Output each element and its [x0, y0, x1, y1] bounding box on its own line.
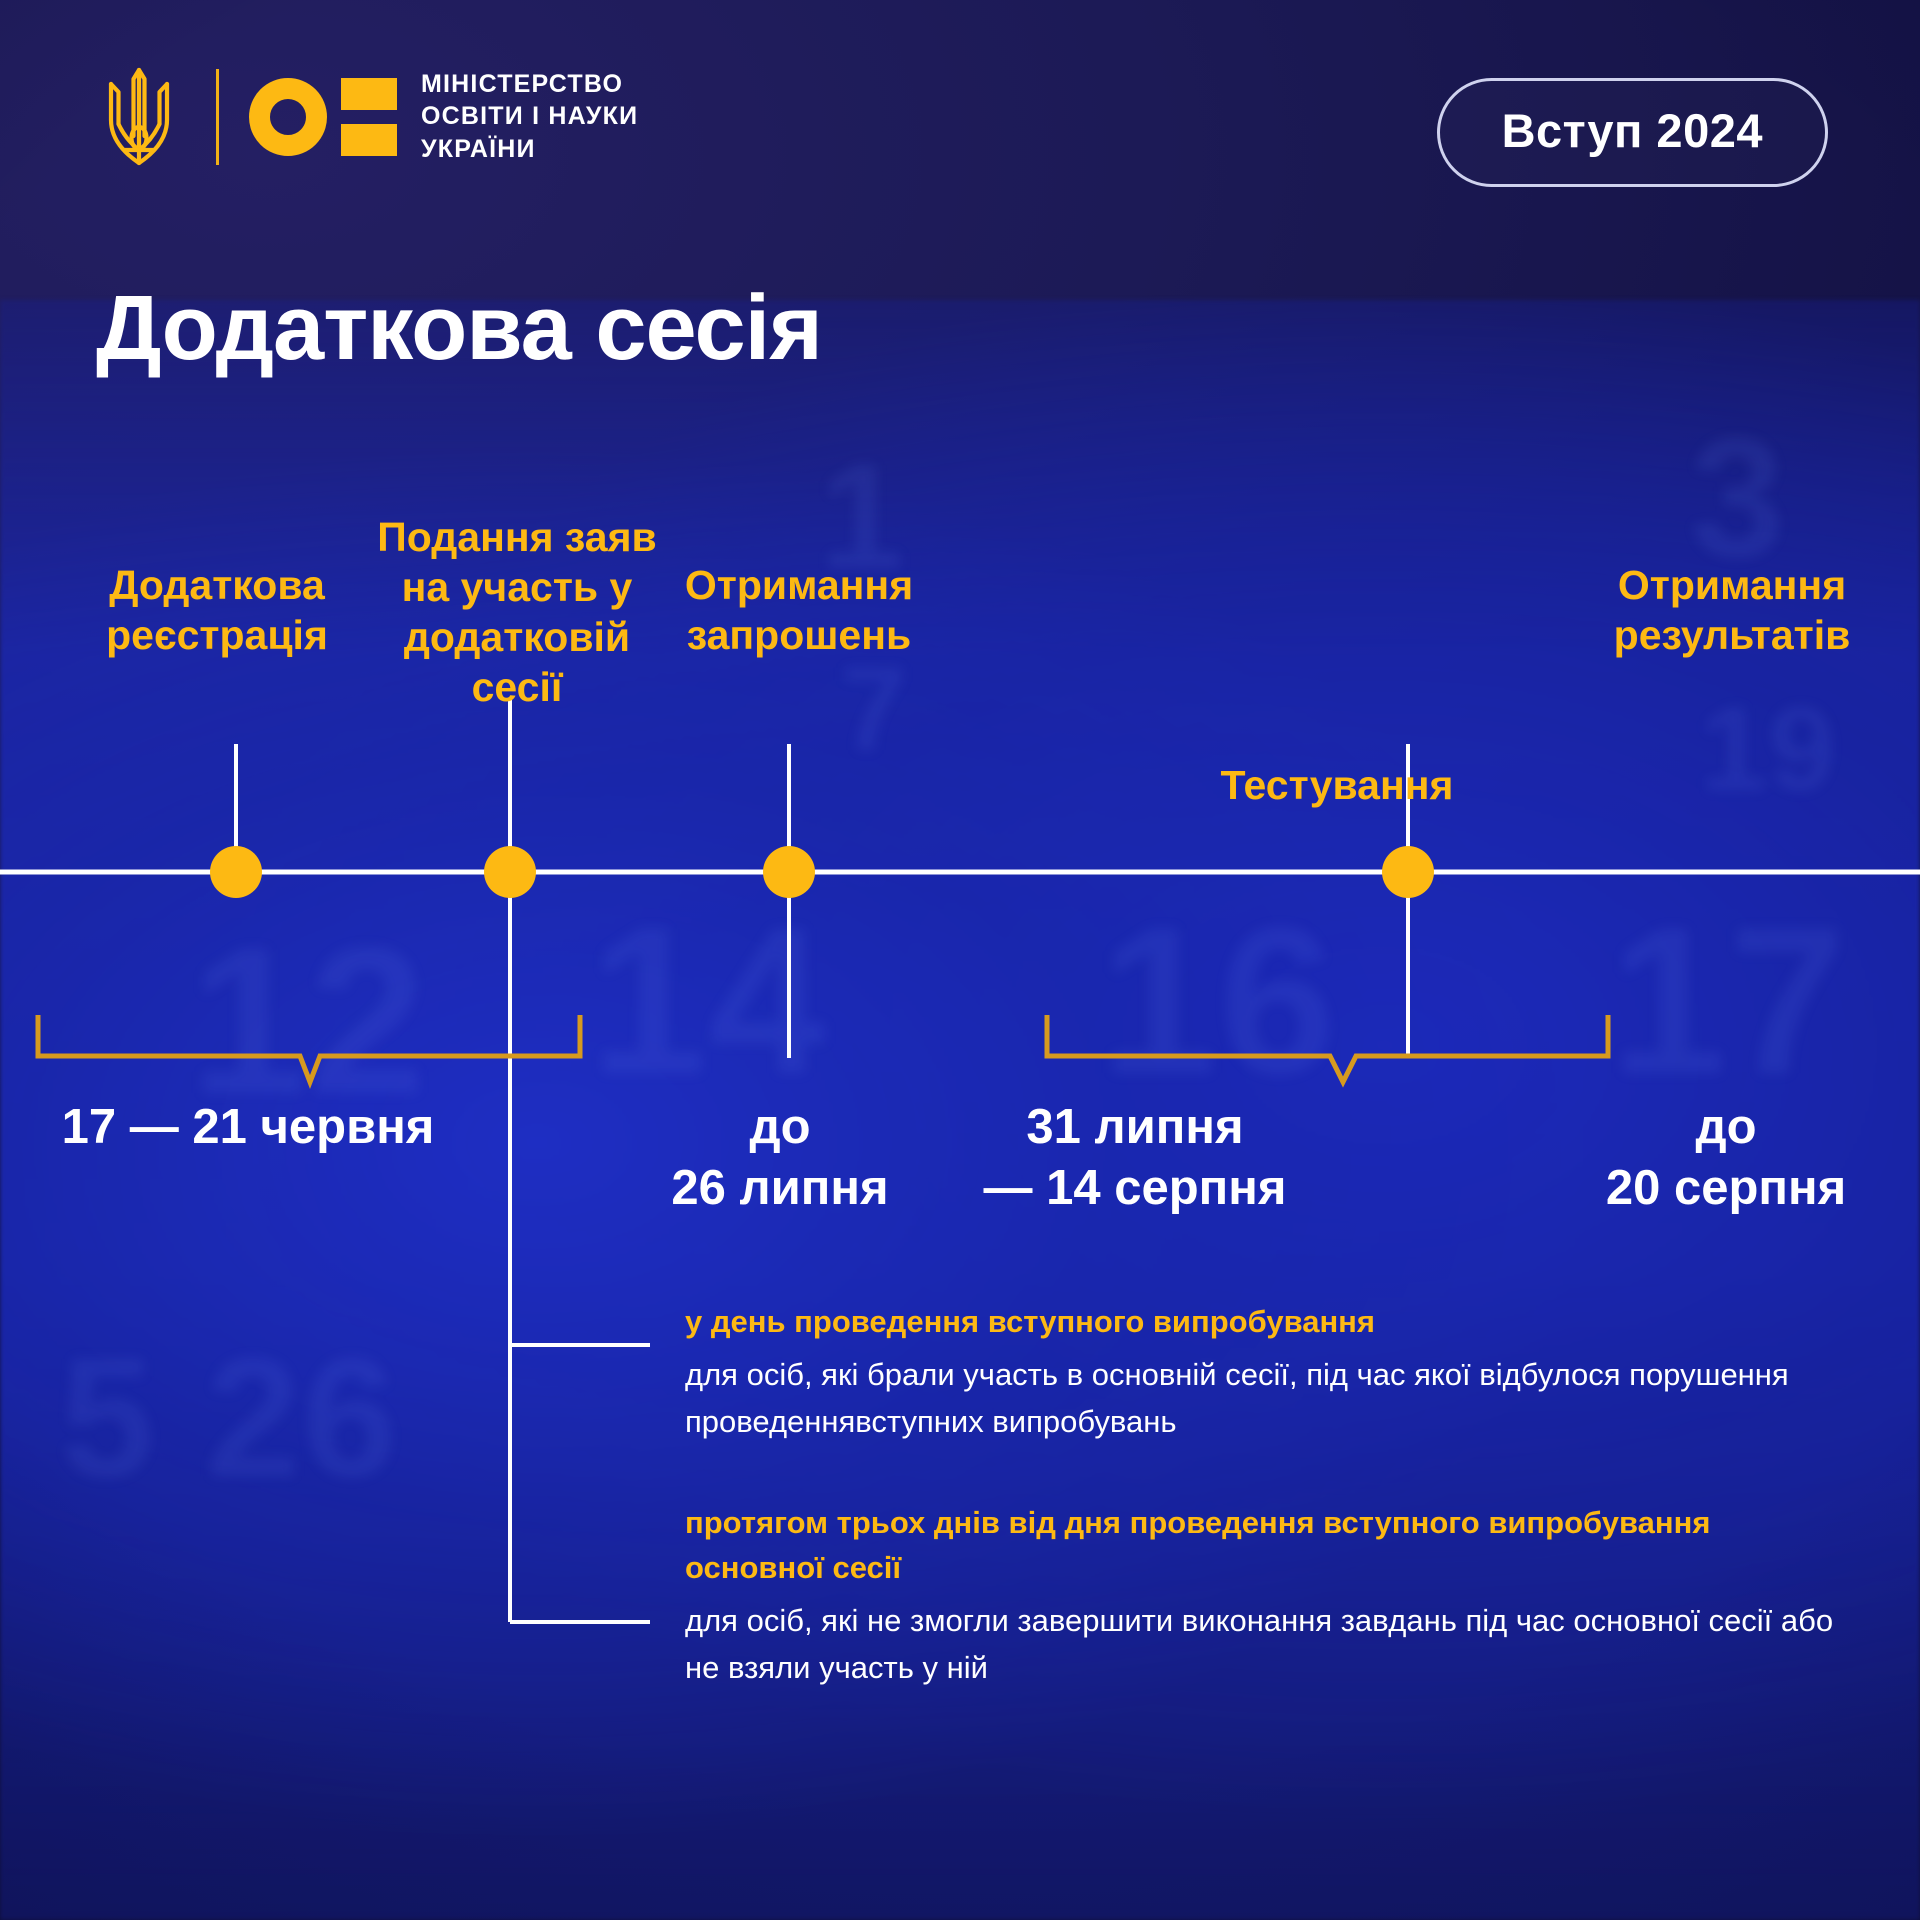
note-exam-day-body: для осіб, які брали участь в основній се…: [685, 1351, 1845, 1445]
ministry-line-1: МІНІСТЕРСТВО: [421, 68, 638, 101]
admission-year-badge: Вступ 2024: [1437, 78, 1828, 187]
logo-divider: [216, 69, 219, 165]
note-exam-day: у день проведення вступного випробування…: [685, 1300, 1845, 1445]
note-three-days-heading: протягом трьох днів від дня проведення в…: [685, 1501, 1845, 1591]
notes-section: у день проведення вступного випробування…: [685, 1300, 1845, 1747]
mon-circle-icon: [249, 78, 327, 156]
date-results: до 20 серпня: [1552, 1097, 1900, 1220]
stage-label-additional-registration: Додаткова реєстрація: [72, 560, 362, 660]
stage-label-receiving-invitations: Отримання запрошень: [654, 560, 944, 660]
date-testing: 31 липня — 14 серпня: [936, 1097, 1334, 1220]
date-registration-line1: 17 — 21 червня: [28, 1097, 468, 1158]
note-three-days: протягом трьох днів від дня проведення в…: [685, 1501, 1845, 1691]
ukraine-tryzub-icon: [96, 64, 182, 169]
date-results-line2: 20 серпня: [1552, 1158, 1900, 1219]
mon-equals-icon: [341, 78, 397, 156]
mon-o-equals-icon: [249, 78, 397, 156]
ministry-name: МІНІСТЕРСТВО ОСВІТИ І НАУКИ УКРАЇНИ: [421, 68, 638, 166]
date-bracket-registration: [38, 1015, 580, 1082]
note-three-days-body: для осіб, які не змогли завершити викона…: [685, 1597, 1845, 1691]
brand-header: МІНІСТЕРСТВО ОСВІТИ І НАУКИ УКРАЇНИ: [96, 64, 638, 169]
date-registration: 17 — 21 червня: [28, 1097, 468, 1158]
stage-label-receiving-results: Отримання результатів: [1572, 560, 1892, 660]
stage-label-application-submission: Подання заяв на участь у додатковій сесі…: [352, 512, 682, 712]
timeline-node-4: [1382, 846, 1434, 898]
stage-label-testing: Тестування: [1182, 760, 1492, 810]
date-testing-line1: 31 липня: [936, 1097, 1334, 1158]
timeline-node-2: [484, 846, 536, 898]
page-title: Додаткова сесія: [96, 276, 822, 381]
date-invitations-line1: до: [636, 1097, 924, 1158]
date-invitations: до 26 липня: [636, 1097, 924, 1220]
ministry-line-2: ОСВІТИ І НАУКИ: [421, 100, 638, 133]
date-testing-line2: — 14 серпня: [936, 1158, 1334, 1219]
date-invitations-line2: 26 липня: [636, 1158, 924, 1219]
timeline-node-1: [210, 846, 262, 898]
ministry-line-3: УКРАЇНИ: [421, 133, 638, 166]
date-bracket-testing: [1047, 1015, 1608, 1082]
timeline-node-3: [763, 846, 815, 898]
note-exam-day-heading: у день проведення вступного випробування: [685, 1300, 1845, 1345]
date-results-line1: до: [1552, 1097, 1900, 1158]
